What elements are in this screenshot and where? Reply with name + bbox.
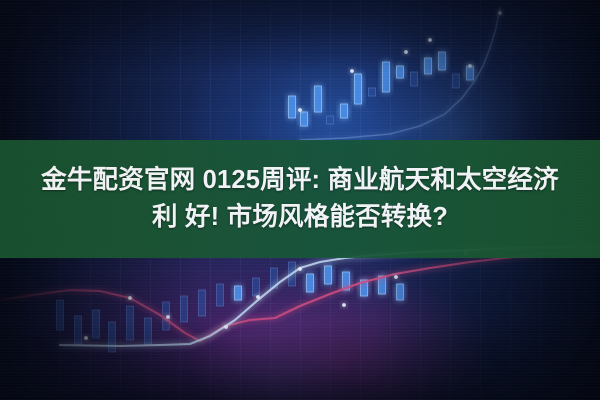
candlestick xyxy=(145,318,152,344)
candlestick xyxy=(439,52,446,70)
data-point-dot xyxy=(298,108,302,112)
candlestick xyxy=(181,296,188,322)
data-point-dot xyxy=(224,325,228,329)
candlestick xyxy=(289,262,296,286)
trend-line-white-blue-trend-line xyxy=(60,246,600,346)
candlestick xyxy=(271,268,278,288)
data-point-dot xyxy=(84,336,88,340)
candlestick xyxy=(57,300,64,330)
candlestick xyxy=(253,278,260,296)
data-point-dot xyxy=(350,69,354,73)
candlestick xyxy=(163,302,170,330)
candlestick xyxy=(199,290,206,316)
candlestick xyxy=(127,306,134,340)
data-point-dot xyxy=(404,50,408,54)
candlestick xyxy=(453,74,460,88)
candlestick xyxy=(369,88,376,96)
candlestick xyxy=(235,286,242,300)
candlestick xyxy=(341,104,348,118)
candlestick xyxy=(325,266,332,284)
headline-band: 金牛配资官网 0125周评: 商业航天和太空经济利 好! 市场风格能否转换? xyxy=(0,140,600,258)
candlestick xyxy=(397,66,404,78)
data-point-dot xyxy=(166,315,170,319)
candlestick xyxy=(301,112,308,126)
banner-image: 金牛配资官网 0125周评: 商业航天和太空经济利 好! 市场风格能否转换? xyxy=(0,0,600,400)
headline-line-2: 好! 市场风格能否转换? xyxy=(185,203,448,231)
data-point-dot xyxy=(498,11,502,15)
candlestick xyxy=(355,74,362,104)
candlestick xyxy=(379,276,386,294)
candlestick xyxy=(217,284,224,306)
candlestick xyxy=(411,72,418,86)
headline-text: 金牛配资官网 0125周评: 商业航天和太空经济利 好! 市场风格能否转换? xyxy=(20,162,580,236)
candlestick xyxy=(315,86,322,112)
candlestick xyxy=(425,58,432,74)
data-point-dot xyxy=(468,64,472,68)
candlestick xyxy=(327,116,334,124)
candlestick xyxy=(383,62,390,92)
candlestick xyxy=(289,96,296,118)
data-point-dot xyxy=(298,267,302,271)
candlestick xyxy=(361,280,368,296)
trend-line-rising-curve-upper xyxy=(300,8,500,140)
data-point-dot xyxy=(394,275,398,279)
candlestick xyxy=(467,66,474,80)
data-point-dot xyxy=(256,295,260,299)
candlestick xyxy=(343,272,350,290)
candlestick xyxy=(397,284,404,300)
candlestick xyxy=(109,322,116,352)
candlestick xyxy=(307,274,314,292)
data-point-dot xyxy=(342,303,346,307)
data-point-dot xyxy=(428,38,432,42)
candlestick xyxy=(93,310,100,338)
trend-line-pink-moving-average xyxy=(0,250,600,341)
candlestick xyxy=(75,316,82,344)
data-point-dot xyxy=(128,296,132,300)
